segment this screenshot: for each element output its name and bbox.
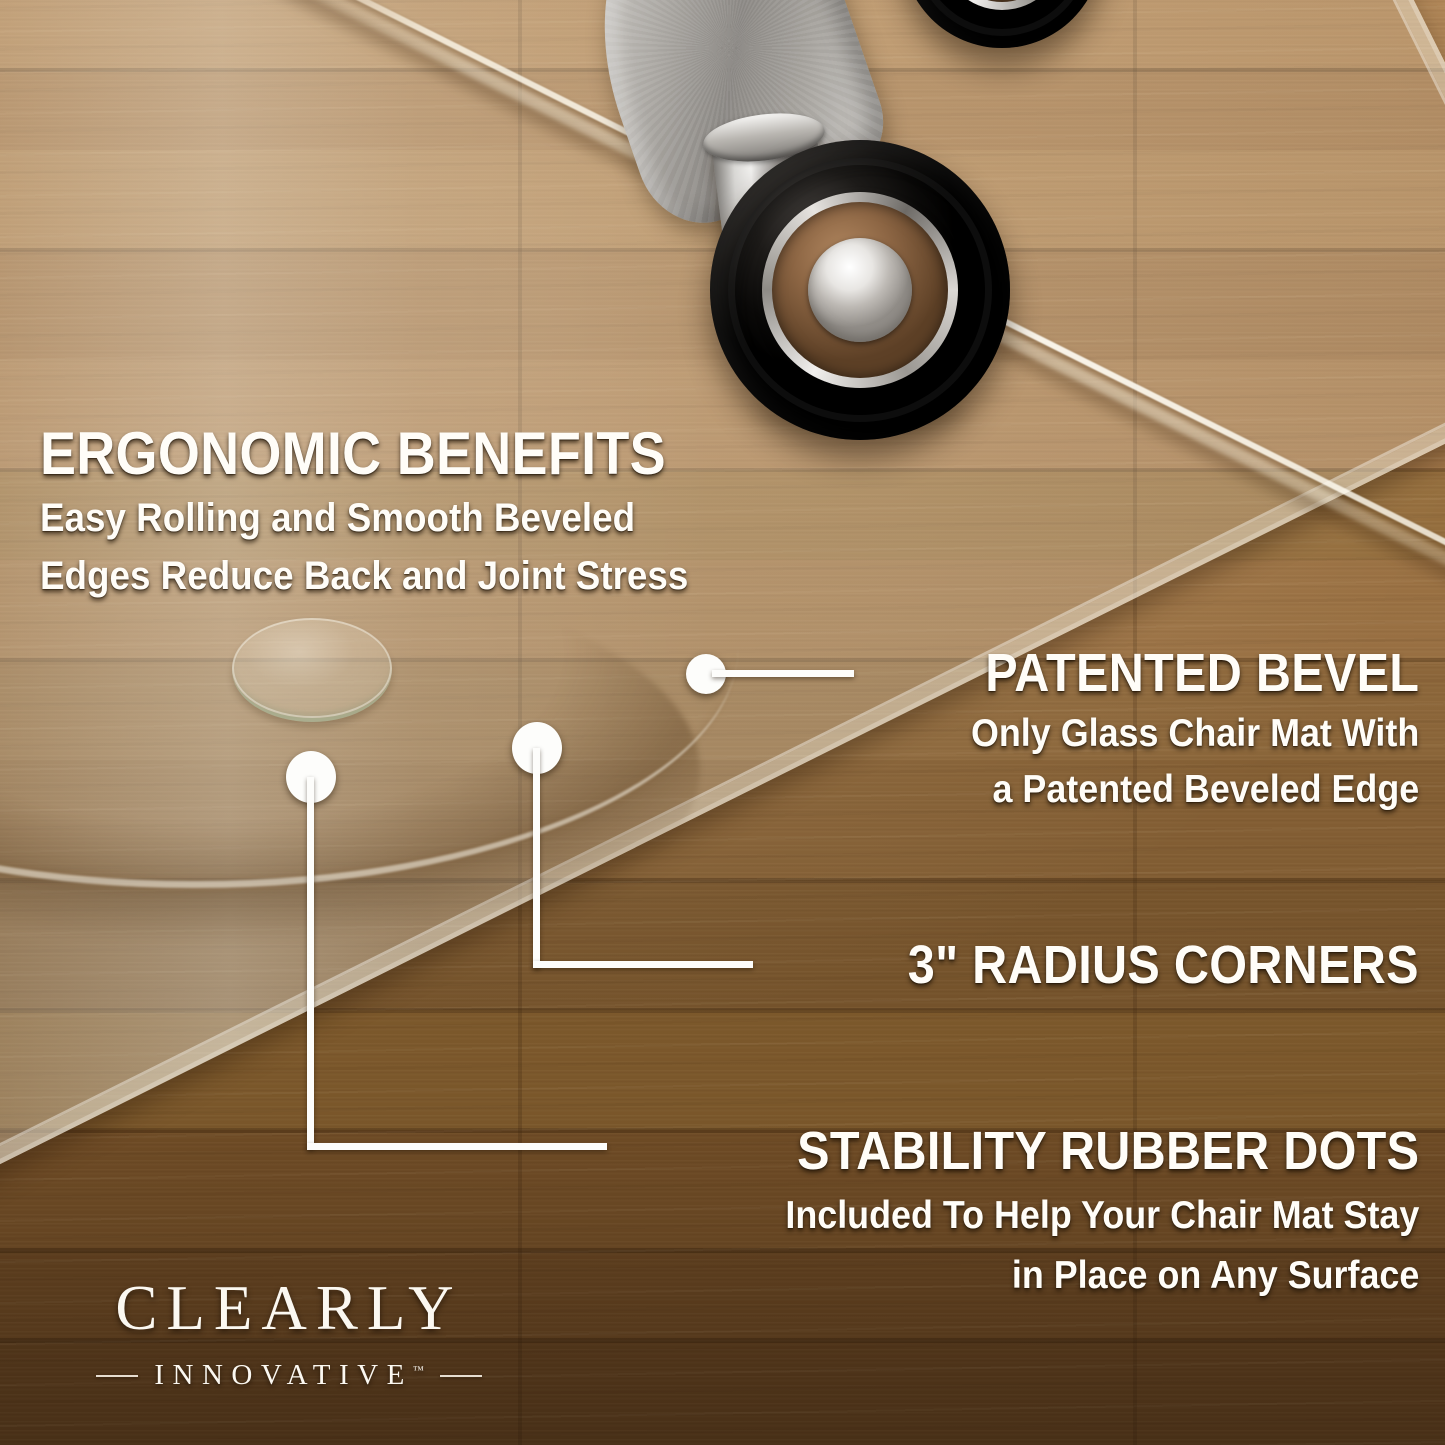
trademark-symbol: ™ — [413, 1364, 424, 1376]
logo-rule-left — [96, 1375, 138, 1377]
logo-rule-right — [440, 1375, 482, 1377]
brand-name-secondary: INNOVATIVE™ — [154, 1359, 423, 1392]
callout-stability-rubber-dots: STABILITY RUBBER DOTS Included To Help Y… — [728, 1124, 1419, 1299]
callout-ergonomic-benefits: ERGONOMIC BENEFITS Easy Rolling and Smoo… — [40, 424, 745, 599]
brand-name-secondary-row: INNOVATIVE™ — [84, 1359, 494, 1392]
callout-subline-ergonomic-1: Easy Rolling and Smooth Beveled — [40, 496, 688, 542]
callout-radius-corners: 3" RADIUS CORNERS — [851, 938, 1419, 992]
leader-line-stability-horizontal — [307, 1143, 607, 1150]
brand-logo: CLEARLY INNOVATIVE™ — [84, 1272, 494, 1392]
leader-line-radius-corners-horizontal — [533, 961, 753, 968]
callout-subline-bevel-1: Only Glass Chair Mat With — [971, 712, 1419, 756]
callout-subline-ergonomic-2: Edges Reduce Back and Joint Stress — [40, 554, 688, 600]
callout-heading-patented-bevel: PATENTED BEVEL — [980, 646, 1419, 700]
callout-subline-dots-1: Included To Help Your Chair Mat Stay — [783, 1194, 1419, 1238]
leader-line-patented-bevel — [712, 670, 854, 677]
callout-subline-bevel-2: a Patented Beveled Edge — [971, 768, 1419, 812]
leader-line-radius-corners-vertical — [533, 748, 540, 968]
caster-hub-core — [808, 238, 912, 342]
rubber-dot-rim — [232, 618, 392, 718]
product-feature-image: ERGONOMIC BENEFITS Easy Rolling and Smoo… — [0, 0, 1445, 1445]
stability-rubber-dot — [232, 618, 392, 722]
callout-heading-ergonomic: ERGONOMIC BENEFITS — [40, 424, 674, 484]
callout-subline-dots-2: in Place on Any Surface — [783, 1254, 1419, 1298]
callout-patented-bevel: PATENTED BEVEL Only Glass Chair Mat With… — [932, 646, 1419, 813]
brand-name-primary: CLEARLY — [84, 1272, 494, 1345]
callout-heading-radius-corners: 3" RADIUS CORNERS — [908, 938, 1419, 992]
brand-name-secondary-text: INNOVATIVE — [154, 1359, 412, 1391]
callout-heading-stability-dots: STABILITY RUBBER DOTS — [797, 1124, 1419, 1178]
leader-line-stability-vertical — [307, 777, 314, 1149]
caster-wheel-main — [710, 140, 1010, 440]
